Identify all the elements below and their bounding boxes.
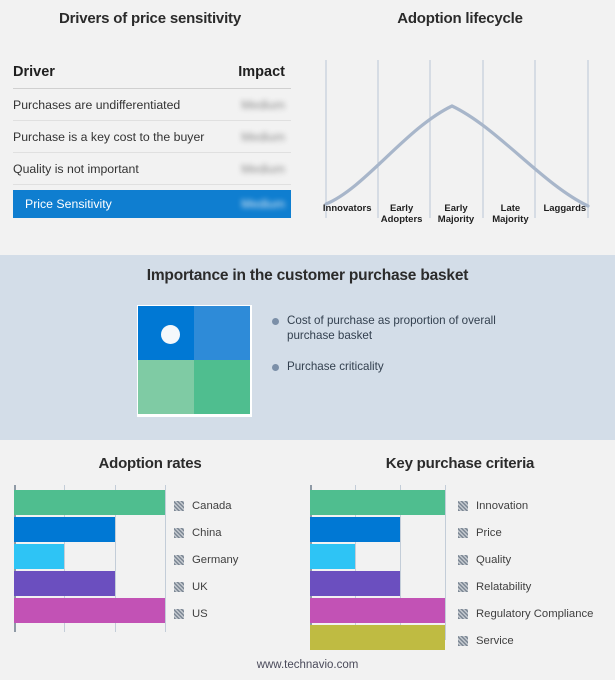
lifecycle-gridlines xyxy=(326,60,588,218)
table-row[interactable]: Purchases are undifferentiated Medium xyxy=(13,89,291,121)
bar[interactable] xyxy=(14,517,115,542)
lifecycle-segment-early-majority: Early Majority xyxy=(429,203,483,225)
legend-item[interactable]: Quality xyxy=(458,546,593,573)
driver-label: Purchase is a key cost to the buyer xyxy=(13,130,204,144)
legend-item[interactable]: Innovation xyxy=(458,492,593,519)
bullet-dot-icon xyxy=(272,364,279,371)
driver-label: Price Sensitivity xyxy=(25,197,112,211)
bar[interactable] xyxy=(14,571,115,596)
basket-legend: Cost of purchase as proportion of overal… xyxy=(272,313,502,390)
impact-value: Medium xyxy=(241,162,285,176)
matrix-grid xyxy=(138,306,250,414)
legend-swatch-icon xyxy=(458,501,468,511)
legend-label: Relatability xyxy=(476,581,531,593)
table-row[interactable]: Purchase is a key cost to the buyer Medi… xyxy=(13,121,291,153)
basket-panel-title: Importance in the customer purchase bask… xyxy=(0,267,615,285)
adoption-rates-title: Adoption rates xyxy=(0,455,300,472)
gridline xyxy=(445,485,446,640)
legend-item[interactable]: Regulatory Compliance xyxy=(458,600,593,627)
legend-item[interactable]: UK xyxy=(174,573,238,600)
legend-swatch-icon xyxy=(458,555,468,565)
matrix-quadrant-top-right[interactable] xyxy=(194,306,250,360)
infographic-page: Drivers of price sensitivity Driver Impa… xyxy=(0,0,615,680)
bar[interactable] xyxy=(310,625,445,650)
legend-swatch-icon xyxy=(174,609,184,619)
bar[interactable] xyxy=(14,490,165,515)
legend-label: Price xyxy=(476,527,502,539)
plot-area xyxy=(310,485,447,640)
legend-label: Cost of purchase as proportion of overal… xyxy=(287,313,502,343)
impact-value: Medium xyxy=(241,130,285,144)
driver-label: Quality is not important xyxy=(13,162,139,176)
legend-swatch-icon xyxy=(174,555,184,565)
lifecycle-segment-innovators: Innovators xyxy=(320,203,374,225)
drivers-panel-title: Drivers of price sensitivity xyxy=(0,10,300,27)
legend-label: China xyxy=(192,527,222,539)
key-purchase-criteria-title: Key purchase criteria xyxy=(315,455,605,472)
bar[interactable] xyxy=(310,571,400,596)
matrix-position-marker-dot xyxy=(161,325,180,344)
legend-item[interactable]: Canada xyxy=(174,492,238,519)
matrix-quadrant-bottom-left[interactable] xyxy=(138,360,194,414)
chart-legend: CanadaChinaGermanyUKUS xyxy=(174,492,238,627)
legend-label: UK xyxy=(192,581,208,593)
legend-swatch-icon xyxy=(458,636,468,646)
segment-line2: Majority xyxy=(483,214,537,225)
bar[interactable] xyxy=(310,598,445,623)
legend-item: Purchase criticality xyxy=(272,359,502,374)
adoption-lifecycle-chart: Innovators Early Adopters Early Majority… xyxy=(320,56,592,236)
legend-swatch-icon xyxy=(174,582,184,592)
table-row-highlighted[interactable]: Price Sensitivity Medium xyxy=(13,190,291,218)
impact-value: Medium xyxy=(241,98,285,112)
lifecycle-segment-labels: Innovators Early Adopters Early Majority… xyxy=(320,203,592,225)
matrix-quadrant-bottom-right[interactable] xyxy=(194,360,250,414)
legend-item[interactable]: US xyxy=(174,600,238,627)
adoption-rates-chart: CanadaChinaGermanyUKUS xyxy=(14,485,274,635)
legend-item[interactable]: Price xyxy=(458,519,593,546)
segment-line2: Laggards xyxy=(538,203,592,214)
legend-item[interactable]: Service xyxy=(458,627,593,654)
legend-item[interactable]: Relatability xyxy=(458,573,593,600)
purchase-basket-matrix xyxy=(137,305,252,417)
column-header-driver: Driver xyxy=(13,64,55,80)
lifecycle-segment-laggards: Laggards xyxy=(538,203,592,225)
footer-url: www.technavio.com xyxy=(0,659,615,671)
bar[interactable] xyxy=(14,598,165,623)
segment-line1: Late xyxy=(483,203,537,214)
segment-line2: Adopters xyxy=(374,214,428,225)
legend-label: Canada xyxy=(192,500,232,512)
bullet-dot-icon xyxy=(272,318,279,325)
lifecycle-segment-early-adopters: Early Adopters xyxy=(374,203,428,225)
gridline xyxy=(165,485,166,632)
legend-swatch-icon xyxy=(458,528,468,538)
key-purchase-criteria-chart: InnovationPriceQualityRelatabilityRegula… xyxy=(310,485,610,640)
table-row[interactable]: Quality is not important Medium xyxy=(13,153,291,185)
lifecycle-segment-late-majority: Late Majority xyxy=(483,203,537,225)
legend-label: Regulatory Compliance xyxy=(476,608,593,620)
drivers-table: Driver Impact Purchases are undifferenti… xyxy=(13,64,291,218)
legend-label: Germany xyxy=(192,554,238,566)
segment-line2: Innovators xyxy=(320,203,374,214)
segment-line1: Early xyxy=(429,203,483,214)
bar[interactable] xyxy=(310,544,355,569)
column-header-impact: Impact xyxy=(238,64,285,80)
bell-curve-path xyxy=(326,106,588,206)
plot-area xyxy=(14,485,167,632)
segment-line1: Early xyxy=(374,203,428,214)
impact-value: Medium xyxy=(241,197,285,211)
legend-label: Innovation xyxy=(476,500,528,512)
driver-label: Purchases are undifferentiated xyxy=(13,98,180,112)
legend-item[interactable]: Germany xyxy=(174,546,238,573)
legend-swatch-icon xyxy=(174,528,184,538)
legend-label: Purchase criticality xyxy=(287,359,384,374)
lifecycle-curve-svg xyxy=(320,56,592,226)
legend-item: Cost of purchase as proportion of overal… xyxy=(272,313,502,343)
table-header-row: Driver Impact xyxy=(13,64,291,89)
legend-label: Service xyxy=(476,635,514,647)
bar[interactable] xyxy=(310,517,400,542)
chart-legend: InnovationPriceQualityRelatabilityRegula… xyxy=(458,492,593,654)
legend-swatch-icon xyxy=(174,501,184,511)
bar[interactable] xyxy=(14,544,64,569)
legend-swatch-icon xyxy=(458,582,468,592)
bar[interactable] xyxy=(310,490,445,515)
lifecycle-panel-title: Adoption lifecycle xyxy=(315,10,605,27)
legend-item[interactable]: China xyxy=(174,519,238,546)
legend-label: Quality xyxy=(476,554,511,566)
segment-line2: Majority xyxy=(429,214,483,225)
legend-label: US xyxy=(192,608,208,620)
legend-swatch-icon xyxy=(458,609,468,619)
